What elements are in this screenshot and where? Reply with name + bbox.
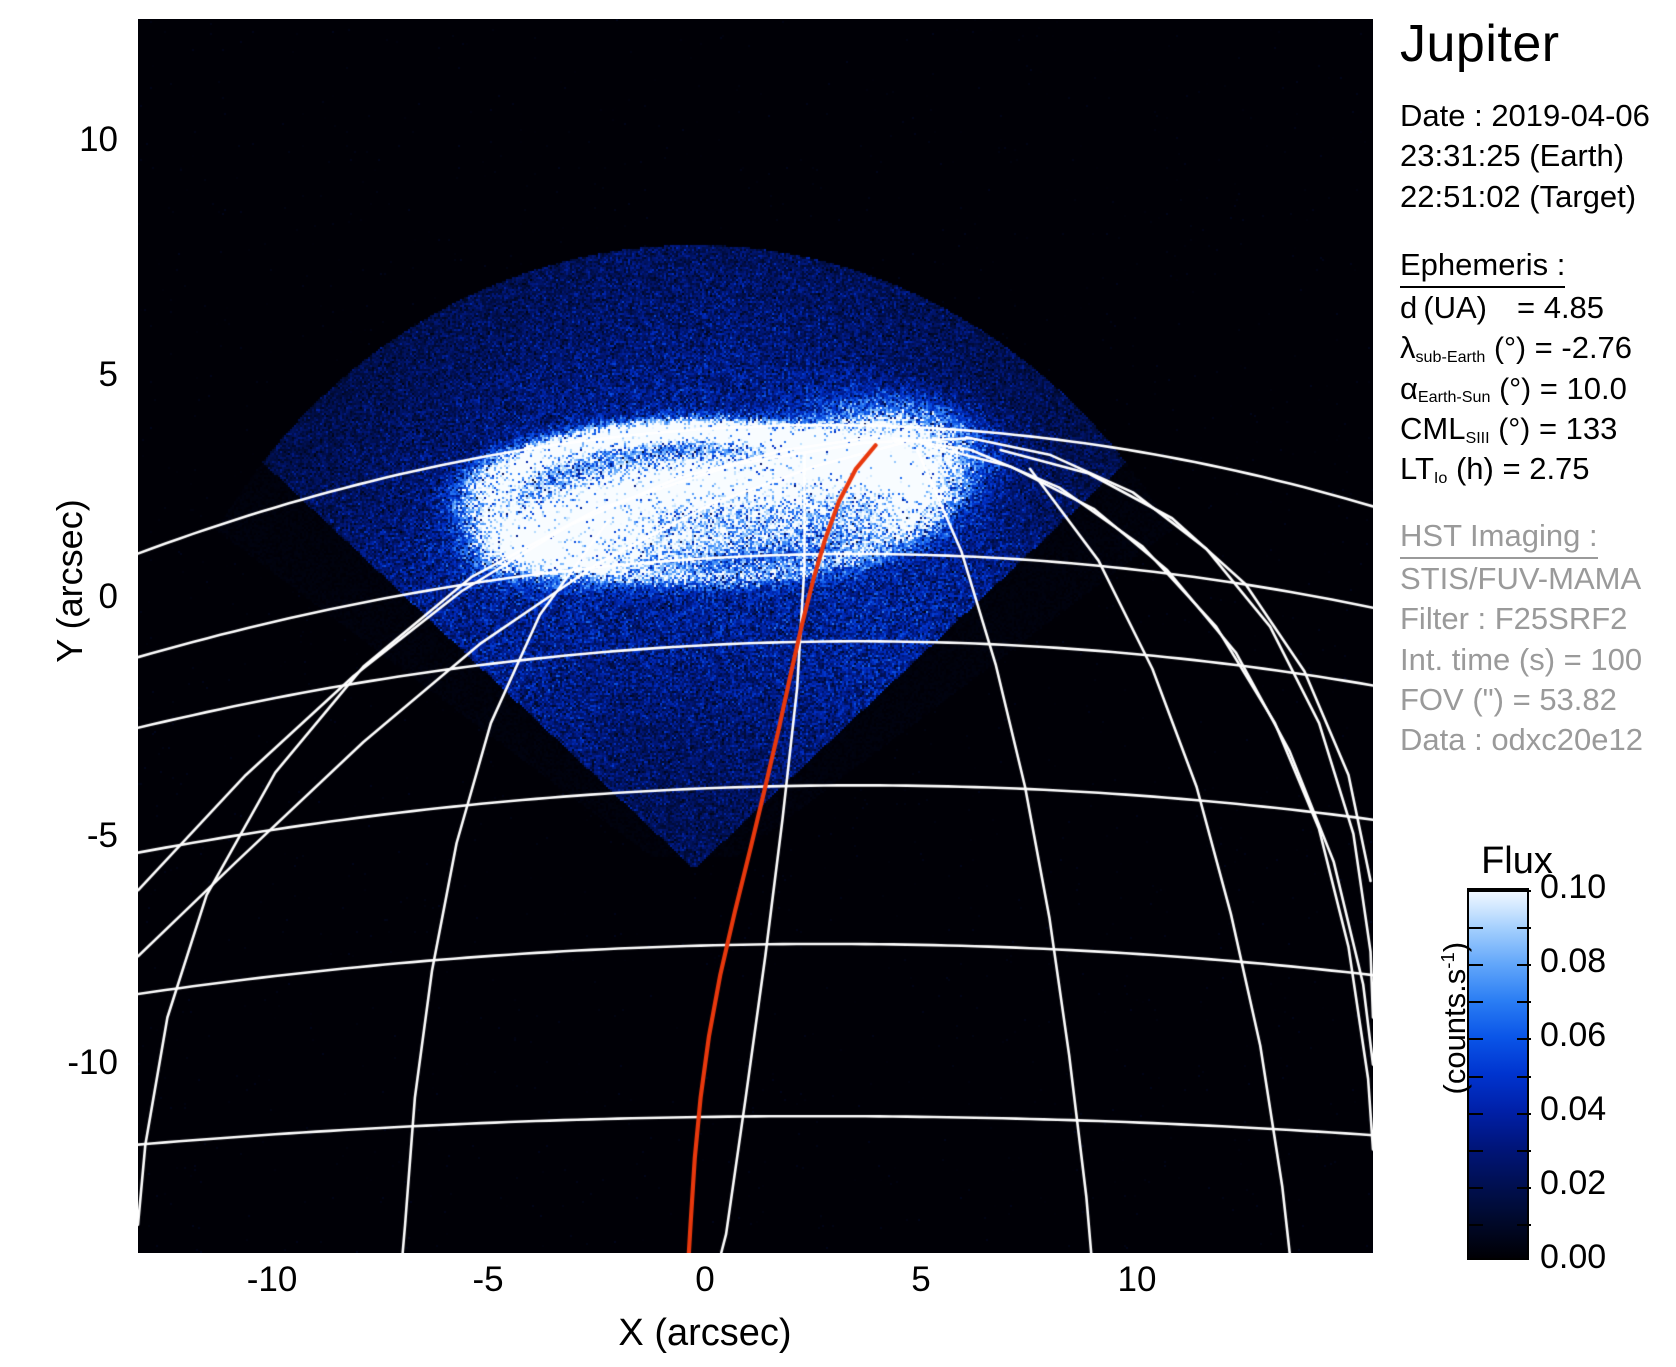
hst-field-of-view: FOV (") = 53.82	[1400, 680, 1676, 720]
hst-data-id: Data : odxc20e12	[1400, 720, 1676, 760]
colorbar-tick-minor	[1517, 1001, 1531, 1003]
ephemeris-unit: (°)	[1499, 373, 1531, 406]
colorbar-tick-label: 0.10	[1540, 870, 1670, 904]
colorbar-tick-label: 0.08	[1540, 944, 1670, 978]
colorbar-units-close: )	[1437, 942, 1472, 952]
colorbar-gradient	[1467, 888, 1529, 1260]
hst-imaging-heading: HST Imaging :	[1400, 516, 1598, 559]
ephemeris-symbol: d	[1400, 290, 1417, 325]
y-tick-label: -10	[0, 1045, 118, 1080]
ephemeris-value: -2.76	[1561, 330, 1632, 365]
ephemeris-subscript: sub-Earth	[1416, 348, 1486, 366]
x-tick-label: -10	[202, 1262, 342, 1297]
ephemeris-value: 2.75	[1529, 451, 1589, 486]
observation-time-earth: 23:31:25 (Earth)	[1400, 136, 1676, 176]
flux-colorbar: Flux 0.10 0.08 0.06 0.04 0.02 0.00 (coun…	[1392, 840, 1676, 1280]
ephemeris-value: 10.0	[1567, 371, 1627, 406]
hst-integration-time: Int. time (s) = 100	[1400, 640, 1676, 680]
colorbar-tick-minor	[1517, 1187, 1531, 1189]
colorbar-tick-minor	[1517, 1038, 1531, 1040]
colorbar-tick-minor	[1517, 1224, 1531, 1226]
x-tick-label: 5	[851, 1262, 991, 1297]
ephemeris-row-cml: CMLSIII (°) = 133	[1400, 409, 1676, 449]
ephemeris-subscript: SIII	[1465, 429, 1489, 447]
colorbar-tick-minor	[1517, 1113, 1531, 1115]
colorbar-tick-label: 0.02	[1540, 1166, 1670, 1200]
colorbar-tick-label: 0.04	[1540, 1092, 1670, 1126]
ephemeris-value: 4.85	[1544, 290, 1604, 325]
colorbar-units-exponent: -1	[1437, 952, 1458, 969]
page-title: Jupiter	[1400, 18, 1676, 70]
ephemeris-value: 133	[1566, 411, 1618, 446]
observation-date: Date : 2019-04-06	[1400, 96, 1676, 136]
y-axis-label: Y (arcsec)	[49, 451, 91, 711]
colorbar-tick-minor	[1517, 1150, 1531, 1152]
y-tick-label: 5	[0, 357, 118, 392]
ephemeris-separator: =	[1502, 451, 1520, 486]
colorbar-units-label: (counts.s-1)	[1437, 893, 1473, 1143]
ephemeris-subscript: Io	[1434, 469, 1447, 487]
ephemeris-row-distance: d(UA)= 4.85	[1400, 288, 1676, 328]
colorbar-tick-label: 0.00	[1540, 1240, 1670, 1274]
ephemeris-subscript: Earth-Sun	[1418, 388, 1491, 406]
ephemeris-unit: (UA)	[1423, 290, 1487, 325]
ephemeris-row-io-local-time: LTIo (h) = 2.75	[1400, 449, 1676, 489]
x-tick-label: 10	[1067, 1262, 1207, 1297]
ephemeris-symbol: CML	[1400, 411, 1465, 446]
ephemeris-symbol: λ	[1400, 330, 1416, 365]
colorbar-tick-minor	[1517, 964, 1531, 966]
observation-time-target: 22:51:02 (Target)	[1400, 177, 1676, 217]
ephemeris-unit: (h)	[1456, 451, 1494, 486]
ephemeris-separator: =	[1517, 290, 1535, 325]
ephemeris-separator: =	[1540, 371, 1558, 406]
colorbar-tick-minor	[1517, 1076, 1531, 1078]
ephemeris-symbol: α	[1400, 371, 1418, 406]
colorbar-tick-label: 0.06	[1540, 1018, 1670, 1052]
hst-filter: Filter : F25SRF2	[1400, 599, 1676, 639]
ephemeris-separator: =	[1535, 330, 1553, 365]
aurora-image-canvas	[138, 19, 1373, 1253]
colorbar-tick	[1469, 890, 1531, 892]
ephemeris-row-sub-earth-latitude: λsub-Earth (°) = -2.76	[1400, 328, 1676, 368]
y-tick-label: -5	[0, 818, 118, 853]
y-tick-label: 10	[0, 122, 118, 157]
ephemeris-unit: (°)	[1494, 332, 1526, 365]
x-tick-label: 0	[635, 1262, 775, 1297]
ephemeris-symbol: LT	[1400, 451, 1434, 486]
hst-instrument: STIS/FUV-MAMA	[1400, 559, 1676, 599]
colorbar-tick-minor	[1469, 1187, 1483, 1189]
ephemeris-row-phase-angle: αEarth-Sun (°) = 10.0	[1400, 369, 1676, 409]
x-tick-label: -5	[418, 1262, 558, 1297]
colorbar-tick-minor	[1517, 927, 1531, 929]
ephemeris-separator: =	[1539, 411, 1557, 446]
image-plot-area	[138, 19, 1373, 1253]
colorbar-tick-minor	[1469, 1150, 1483, 1152]
ephemeris-unit: (°)	[1498, 413, 1530, 446]
ephemeris-heading: Ephemeris :	[1400, 245, 1565, 288]
colorbar-tick-minor	[1469, 1224, 1483, 1226]
x-axis-label: X (arcsec)	[585, 1312, 825, 1355]
observation-info-panel: Jupiter Date : 2019-04-06 23:31:25 (Eart…	[1392, 0, 1676, 780]
colorbar-units-text: (counts.s	[1437, 969, 1472, 1095]
